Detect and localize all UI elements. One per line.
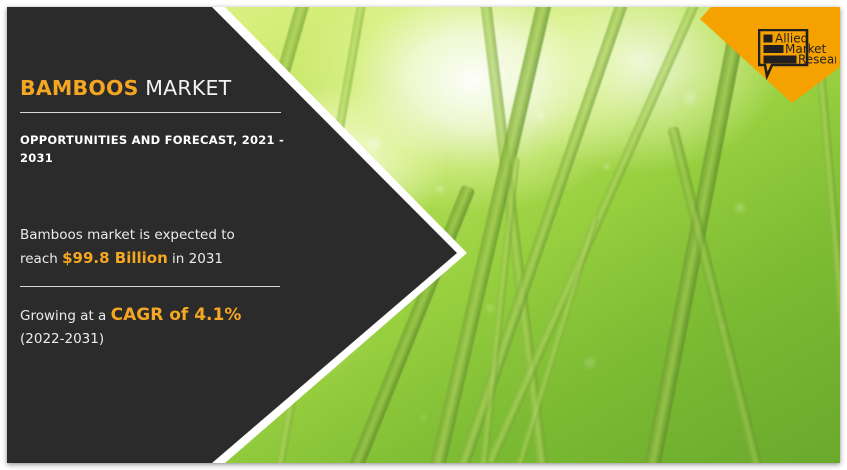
speech-bubble-icon: Allied Market Research: [758, 29, 836, 81]
stat-cagr-value: CAGR of 4.1%: [111, 305, 242, 325]
divider-top: [20, 112, 281, 113]
stat-market-size: Bamboos market is expected to reach $99.…: [20, 224, 272, 271]
stat-cagr-lead: Growing at a: [20, 308, 111, 324]
infographic-card: BAMBOOS MARKET OPPORTUNITIES AND FORECAS…: [7, 7, 840, 463]
stat-cagr: Growing at a CAGR of 4.1% (2022-2031): [20, 304, 272, 351]
allied-market-research-logo[interactable]: Allied Market Research: [758, 29, 836, 81]
report-subtitle: OPPORTUNITIES AND FORECAST, 2021 - 2031: [20, 131, 284, 167]
divider-bottom: [20, 286, 280, 287]
stat-market-size-trail: in 2031: [168, 251, 223, 267]
page-title: BAMBOOS MARKET: [20, 76, 231, 100]
stat-cagr-period: (2022-2031): [20, 331, 104, 347]
title-brand: BAMBOOS: [20, 76, 139, 100]
stat-market-size-value: $99.8 Billion: [62, 249, 168, 267]
text-column: BAMBOOS MARKET OPPORTUNITIES AND FORECAS…: [20, 7, 288, 463]
logo-line-3: Research: [798, 53, 836, 67]
title-suffix: MARKET: [145, 76, 231, 100]
